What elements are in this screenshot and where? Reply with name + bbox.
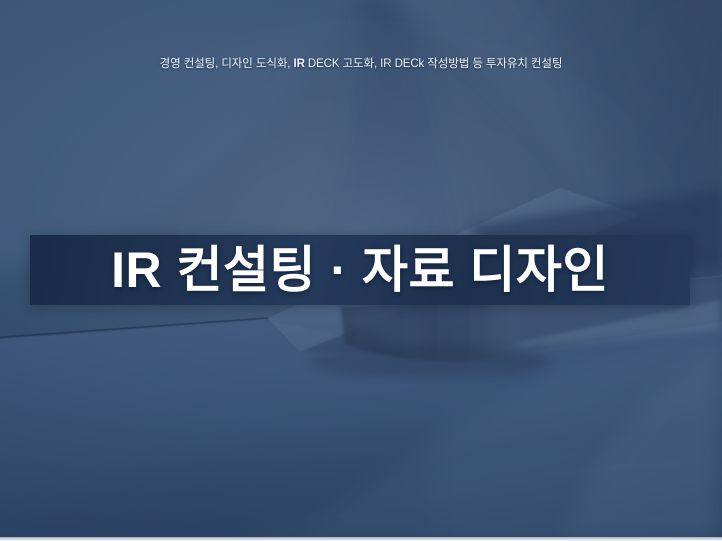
slide-title: IR 컨설팅 · 자료 디자인 <box>30 243 690 297</box>
subtitle-segment-2: DECK 고도화, IR DECk 작성방법 등 투자유치 컨설팅 <box>305 58 563 70</box>
title-band: IR 컨설팅 · 자료 디자인 <box>30 235 690 305</box>
subtitle-segment-1: 경영 컨설팅, 디자인 도식화, <box>160 58 294 70</box>
slide-subtitle: 경영 컨설팅, 디자인 도식화, IR DECK 고도화, IR DECk 작성… <box>0 56 722 72</box>
bottom-edge-strip <box>0 537 722 541</box>
slide-canvas: 경영 컨설팅, 디자인 도식화, IR DECK 고도화, IR DECk 작성… <box>0 0 722 541</box>
subtitle-segment-bold: IR <box>294 58 305 70</box>
